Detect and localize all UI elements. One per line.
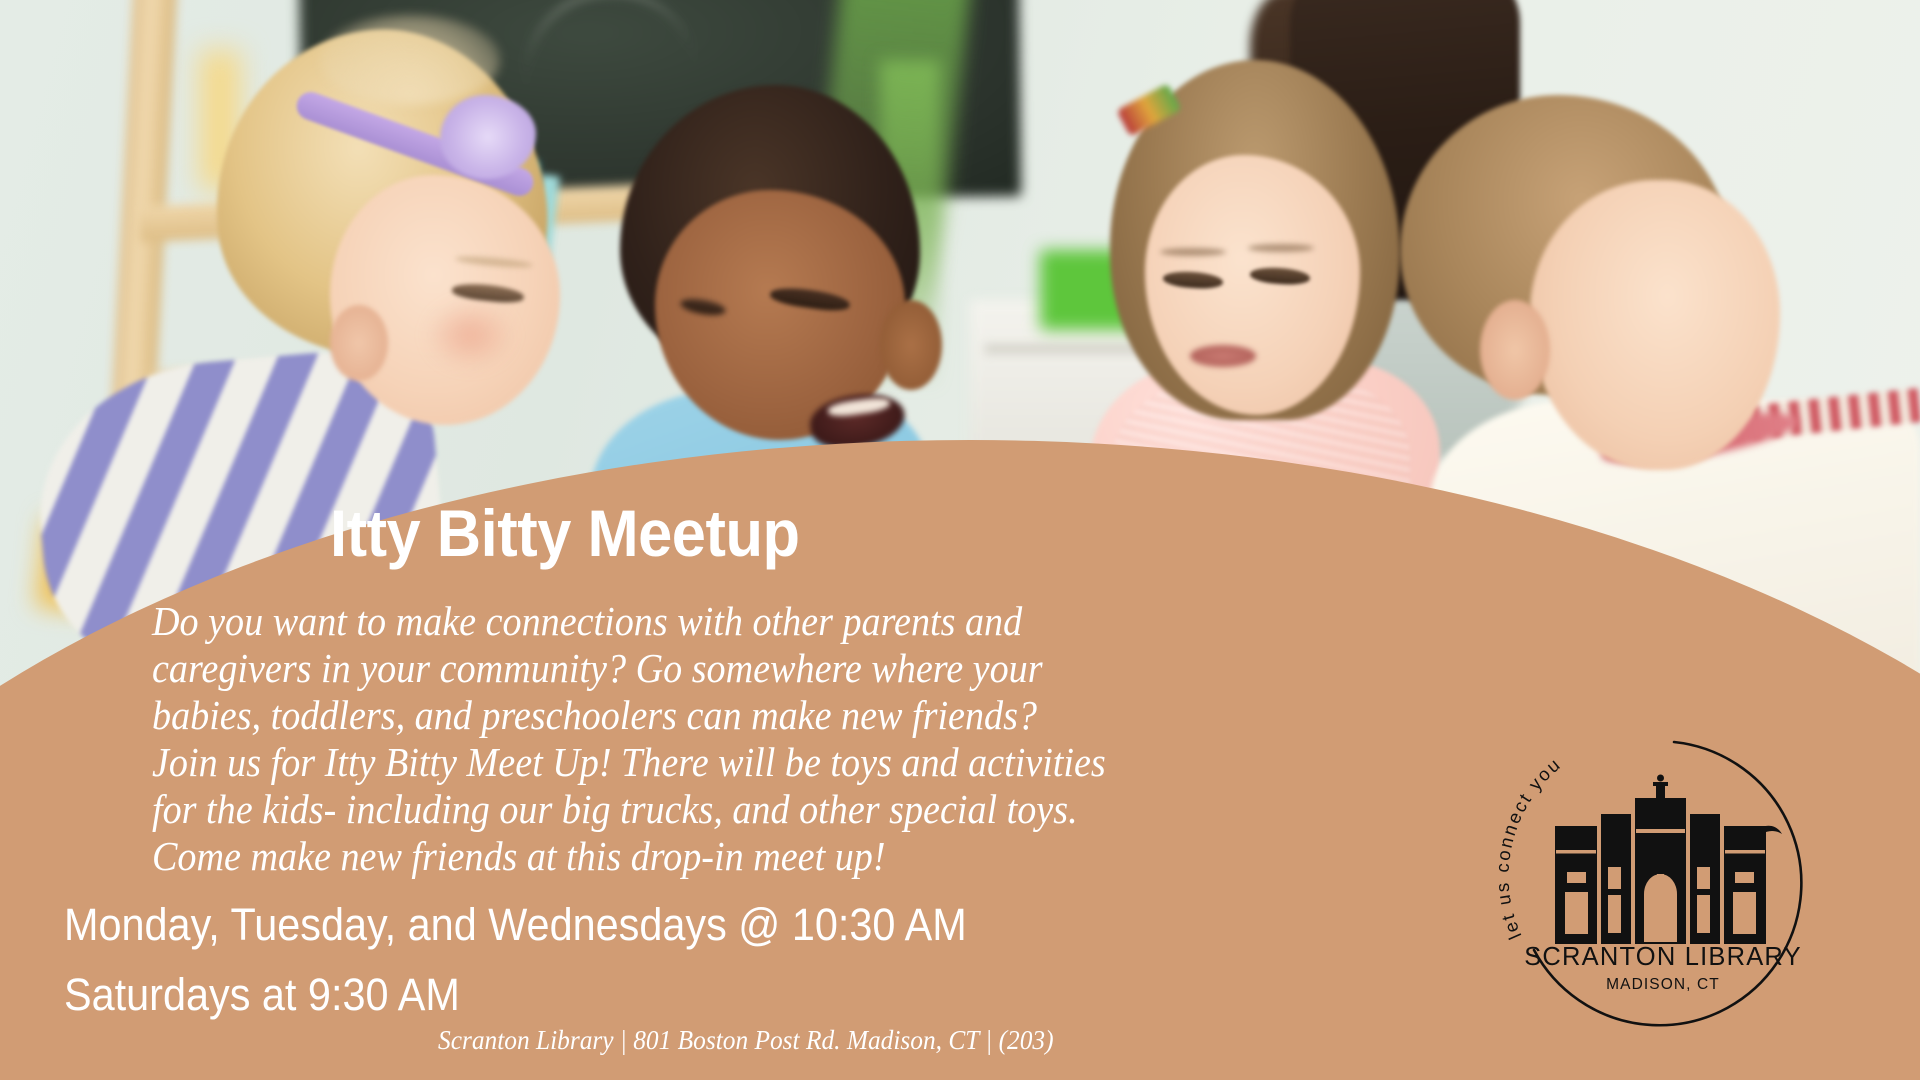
- scranton-library-logo: let us connect you: [1498, 722, 1828, 1052]
- poster-canvas: Itty Bitty Meetup Do you want to make co…: [0, 0, 1920, 1080]
- schedule-line-weekdays: Monday, Tuesday, and Wednesdays @ 10:30 …: [64, 890, 967, 960]
- logo-location-text: MADISON, CT: [1606, 976, 1720, 993]
- poster-content: Itty Bitty Meetup Do you want to make co…: [0, 0, 1920, 1080]
- description-line: babies, toddlers, and preschoolers can m…: [152, 692, 1203, 739]
- schedule-line-saturday: Saturdays at 9:30 AM: [64, 960, 967, 1030]
- description-line: caregivers in your community? Go somewhe…: [152, 645, 1203, 692]
- page-title: Itty Bitty Meetup: [330, 495, 800, 571]
- logo-building-icon: [1555, 775, 1782, 945]
- description-line: Do you want to make connections with oth…: [152, 598, 1203, 645]
- description-block: Do you want to make connections with oth…: [152, 598, 1203, 880]
- venue-address: Scranton Library | 801 Boston Post Rd. M…: [438, 1025, 1054, 1056]
- description-line: for the kids- including our big trucks, …: [152, 786, 1203, 833]
- schedule-block: Monday, Tuesday, and Wednesdays @ 10:30 …: [64, 890, 967, 1030]
- description-line: Come make new friends at this drop-in me…: [152, 833, 1203, 880]
- description-line: Join us for Itty Bitty Meet Up! There wi…: [152, 739, 1203, 786]
- logo-name-text: SCRANTON LIBRARY: [1524, 943, 1802, 971]
